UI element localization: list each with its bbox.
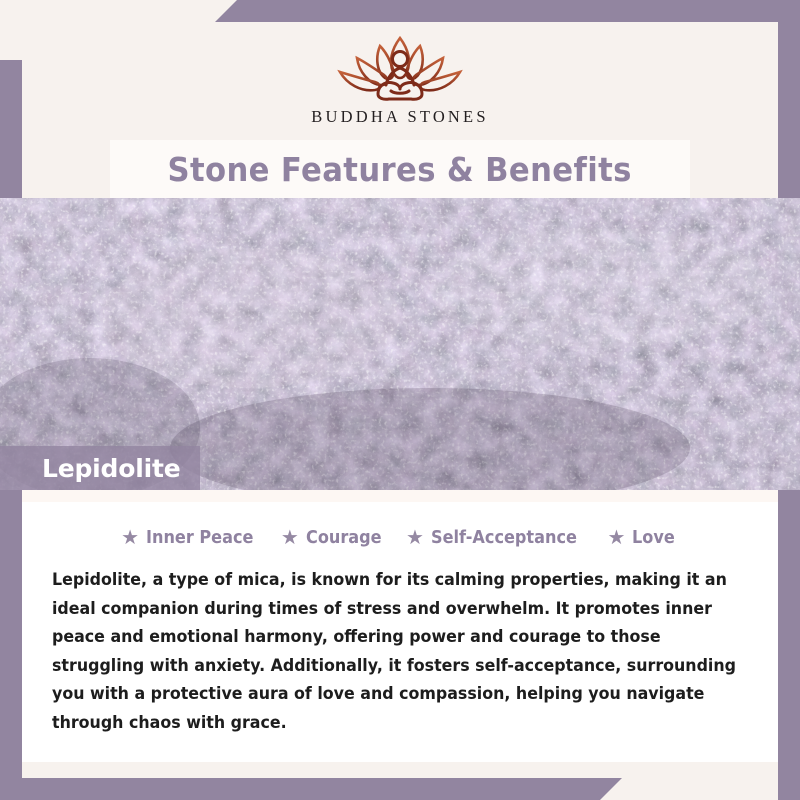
star-icon: ★ xyxy=(607,528,625,548)
stone-name: Lepidolite xyxy=(42,454,180,483)
benefit-label: Courage xyxy=(306,528,382,548)
benefit-item: ★ Inner Peace xyxy=(121,528,263,548)
page-title: Stone Features & Benefits xyxy=(168,150,632,189)
benefits-row: ★ Inner Peace ★ Courage ★ Self-Acceptanc… xyxy=(22,528,778,548)
stone-hero-image: Lepidolite xyxy=(0,198,800,490)
benefit-item: ★ Love xyxy=(607,528,678,548)
benefit-item: ★ Courage xyxy=(281,528,388,548)
frame-bottom-bar xyxy=(0,778,622,800)
content-panel: ★ Inner Peace ★ Courage ★ Self-Acceptanc… xyxy=(22,490,778,762)
brand-wordmark: BUDDHA STONES xyxy=(311,107,488,127)
stone-description: Lepidolite, a type of mica, is known for… xyxy=(52,566,742,737)
benefit-label: Love xyxy=(632,528,675,548)
panel-top-strip xyxy=(22,490,778,502)
star-icon: ★ xyxy=(406,528,424,548)
benefit-item: ★ Self-Acceptance xyxy=(406,528,590,548)
frame-top-bar xyxy=(215,0,800,22)
lotus-meditation-figure-icon xyxy=(325,28,475,106)
stone-info-card: BUDDHA STONES Stone Features & Benefits xyxy=(0,0,800,800)
benefit-label: Inner Peace xyxy=(146,528,253,548)
benefit-label: Self-Acceptance xyxy=(431,528,577,548)
star-icon: ★ xyxy=(121,528,139,548)
star-icon: ★ xyxy=(281,528,299,548)
stone-name-band: Lepidolite xyxy=(0,446,200,490)
brand-logo-block: BUDDHA STONES xyxy=(0,22,800,140)
header-title-band: Stone Features & Benefits xyxy=(110,140,690,198)
